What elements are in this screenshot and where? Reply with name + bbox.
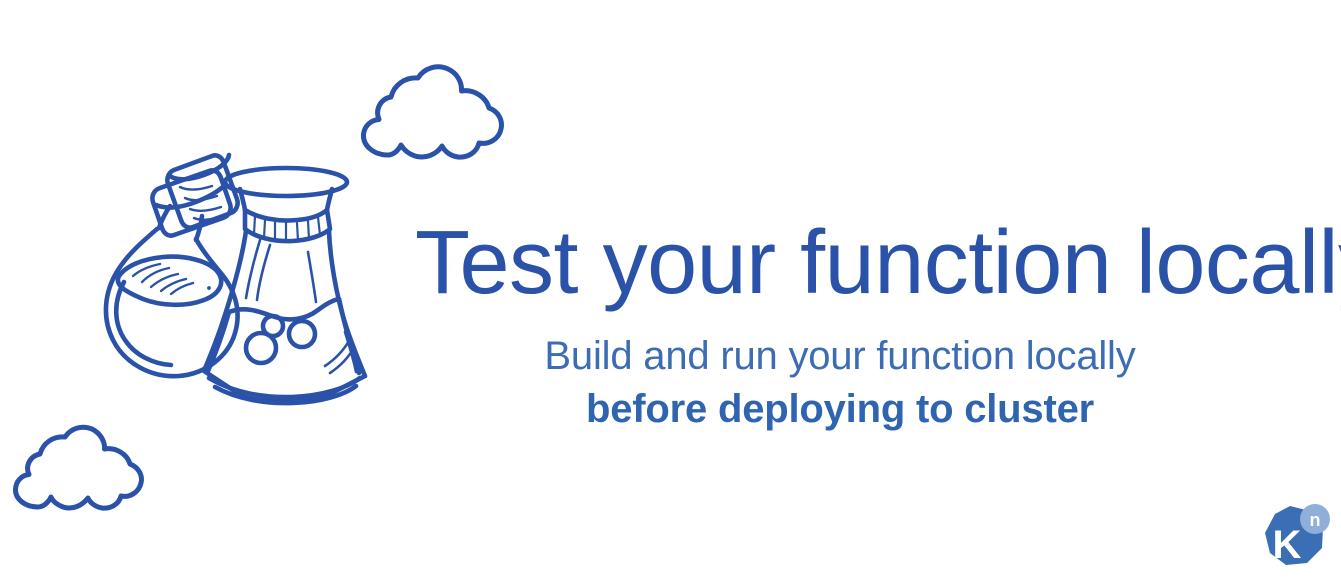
subtitle-line-regular: Build and run your function locally bbox=[415, 330, 1265, 383]
cloud-icon bbox=[352, 58, 508, 168]
knative-logo-badge-letter: n bbox=[1310, 510, 1321, 530]
knative-logo-icon: K n bbox=[1252, 500, 1336, 580]
knative-logo-letter: K bbox=[1273, 523, 1302, 567]
cloud-icon bbox=[8, 424, 160, 516]
slide-canvas: Test your function locally Build and run… bbox=[0, 0, 1341, 585]
laboratory-flasks-icon bbox=[62, 142, 388, 420]
subtitle-block: Build and run your function locally befo… bbox=[415, 330, 1265, 436]
text-block: Test your function locally Build and run… bbox=[415, 218, 1265, 436]
page-title: Test your function locally bbox=[415, 218, 1265, 308]
subtitle-line-bold: before deploying to cluster bbox=[415, 383, 1265, 436]
